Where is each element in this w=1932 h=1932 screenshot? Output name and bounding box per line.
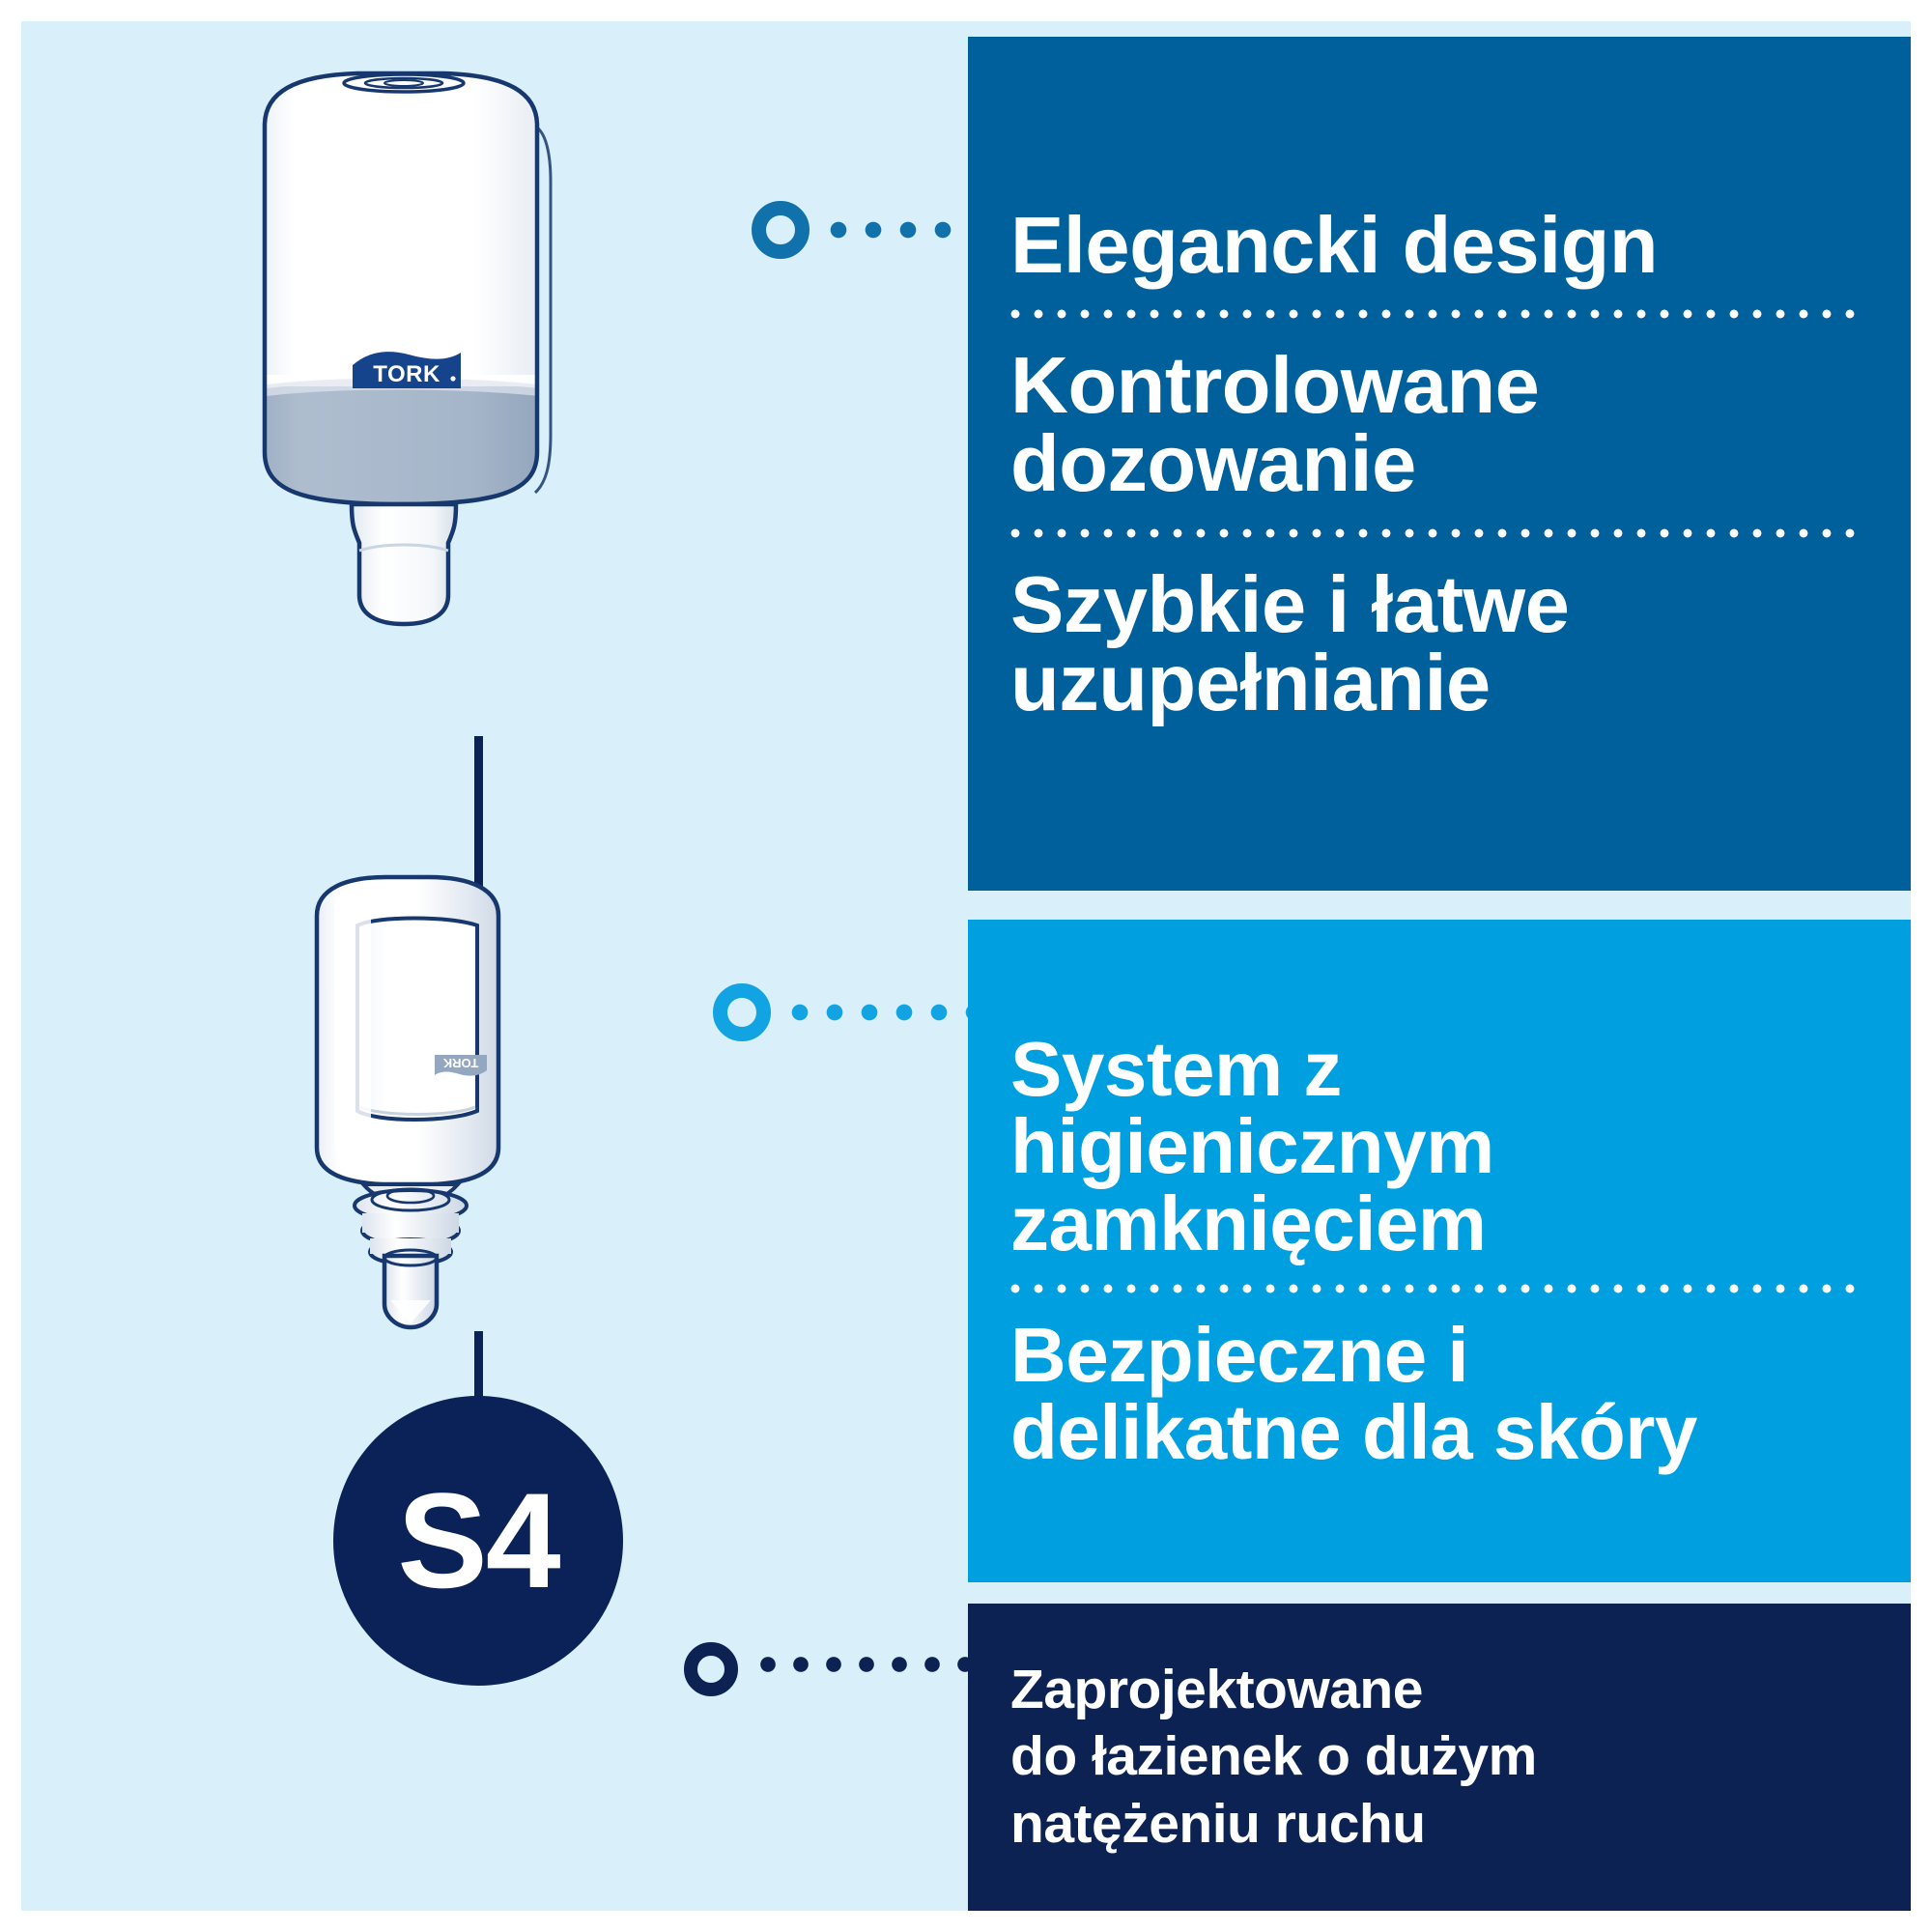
feature-elegant-design: Elegancki design [1010, 206, 1868, 284]
feature-panel-dark: Zaprojektowane do łazienek o dużym natęż… [968, 1604, 1911, 1911]
feature-line: zamknięciem [1010, 1185, 1868, 1263]
feature-line: Zaprojektowane [1010, 1657, 1868, 1724]
feature-line: Bezpieczne i [1010, 1317, 1868, 1394]
svg-text:TORK: TORK [373, 361, 440, 387]
feature-line: Elegancki design [1010, 206, 1868, 284]
connector-dots-dark [759, 1656, 972, 1675]
feature-divider [1010, 1284, 1868, 1295]
feature-panel-primary: Elegancki design Kontrolowane dozowanie … [968, 37, 1911, 891]
feature-controlled-dosing: Kontrolowane dozowanie [1010, 346, 1868, 503]
feature-line: delikatne dla skóry [1010, 1394, 1868, 1471]
connector-ring-accent [713, 983, 771, 1041]
connector-dots-accent [790, 1003, 970, 1022]
feature-line: do łazienek o dużym [1010, 1723, 1868, 1791]
connector-ring-primary [752, 201, 810, 259]
feature-panel-accent: System z higienicznym zamknięciem Bezpie… [968, 920, 1911, 1582]
feature-line: uzupełnianie [1010, 643, 1868, 722]
system-badge-s4: S4 [333, 1396, 623, 1686]
feature-safe-gentle-skin: Bezpieczne i delikatne dla skóry [1010, 1317, 1868, 1471]
system-badge-label: S4 [397, 1473, 558, 1608]
feature-divider [1010, 528, 1868, 540]
connector-dots-primary [829, 220, 970, 240]
feature-hygienic-closure: System z higienicznym zamknięciem [1010, 1031, 1868, 1263]
tork-s4-dispenser-illustration: TORK [251, 68, 599, 773]
feature-line: dozowanie [1010, 424, 1868, 502]
svg-text:TORK: TORK [442, 1056, 478, 1070]
feature-line: Kontrolowane [1010, 346, 1868, 424]
feature-divider [1010, 309, 1868, 321]
feature-high-traffic-washrooms: Zaprojektowane do łazienek o dużym natęż… [1010, 1657, 1868, 1859]
feature-line: higienicznym [1010, 1108, 1868, 1185]
infographic-canvas: TORK [0, 0, 1932, 1932]
feature-line: System z [1010, 1031, 1868, 1108]
connector-ring-dark [684, 1642, 738, 1696]
feature-line: Szybkie i łatwe [1010, 565, 1868, 643]
feature-fast-easy-refill: Szybkie i łatwe uzupełnianie [1010, 565, 1868, 723]
tork-s4-refill-illustration: TORK [270, 869, 551, 1352]
feature-line: natężeniu ruchu [1010, 1791, 1868, 1859]
connector-stem-upper [474, 736, 483, 891]
